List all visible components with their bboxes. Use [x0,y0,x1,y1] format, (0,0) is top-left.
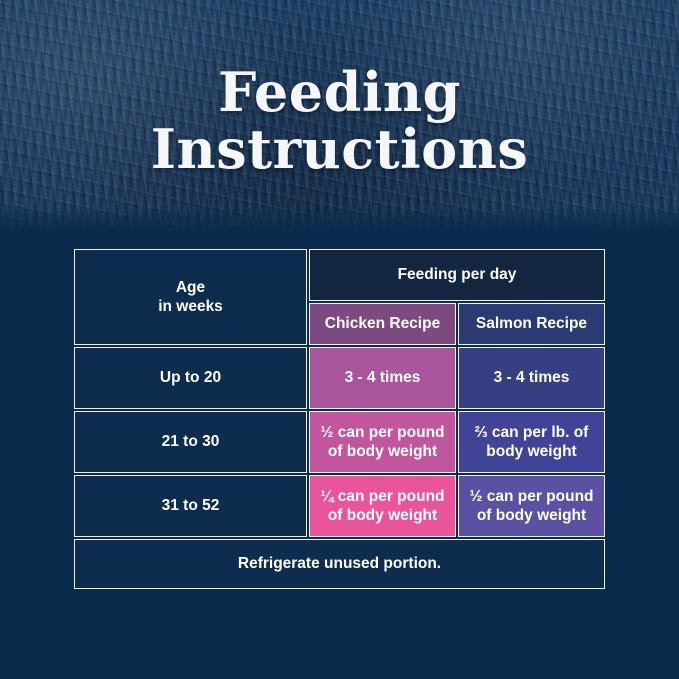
row-2-age: 31 to 52 [74,475,307,537]
table-footer-row: Refrigerate unused portion. [74,539,605,589]
row-1-chicken-line1: ½ can per pound [320,424,444,441]
table-row: Up to 20 3 - 4 times 3 - 4 times [74,347,605,409]
row-1-chicken: ½ can per pound of body weight [309,411,456,473]
header-salmon-recipe: Salmon Recipe [458,303,605,345]
row-2-chicken-line2: of body weight [328,507,437,524]
table-row: 31 to 52 ¼ can per pound of body weight … [74,475,605,537]
table-header-row-1: Age in weeks Feeding per day [74,249,605,301]
row-1-salmon: ⅔ can per lb. of body weight [458,411,605,473]
row-1-salmon-line1: ⅔ can per lb. of [475,424,589,441]
row-0-chicken: 3 - 4 times [309,347,456,409]
header-feeding-per-day: Feeding per day [309,249,605,301]
row-2-salmon: ½ can per pound of body weight [458,475,605,537]
page-title-line1: Feeding [0,64,679,121]
header-age-in-weeks: Age in weeks [74,249,307,345]
feeding-instructions-page: Feeding Instructions Age in weeks Feedin… [0,0,679,679]
header-chicken-recipe: Chicken Recipe [309,303,456,345]
table-row: 21 to 30 ½ can per pound of body weight … [74,411,605,473]
row-0-age: Up to 20 [74,347,307,409]
page-title: Feeding Instructions [0,64,679,178]
row-2-chicken: ¼ can per pound of body weight [309,475,456,537]
page-title-line2: Instructions [0,121,679,178]
row-1-age: 21 to 30 [74,411,307,473]
feeding-table: Age in weeks Feeding per day Chicken Rec… [72,247,607,591]
row-1-chicken-line2: of body weight [328,443,437,460]
row-2-chicken-line1: ¼ can per pound [320,488,444,505]
footer-note: Refrigerate unused portion. [74,539,605,589]
header-age-line2: in weeks [158,298,223,315]
row-2-salmon-line2: of body weight [477,507,586,524]
feeding-table-container: Age in weeks Feeding per day Chicken Rec… [72,247,607,591]
row-0-salmon: 3 - 4 times [458,347,605,409]
header-age-line1: Age [176,279,205,296]
row-2-salmon-line1: ½ can per pound [469,488,593,505]
row-1-salmon-line2: body weight [486,443,576,460]
